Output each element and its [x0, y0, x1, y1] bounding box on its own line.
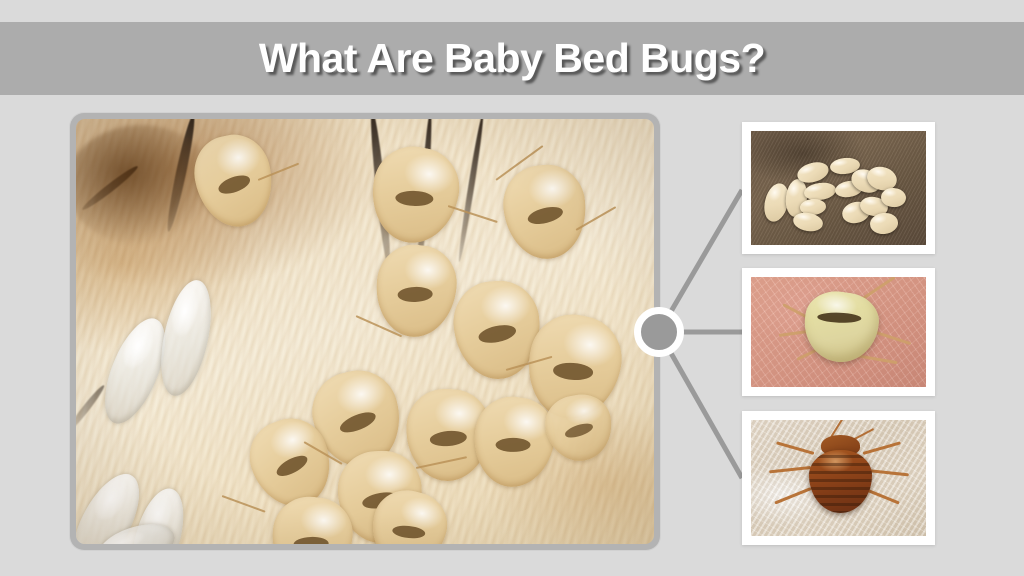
connector-line-to-adult: [659, 332, 742, 478]
title-band: What Are Baby Bed Bugs?: [0, 22, 1024, 95]
slide-canvas: What Are Baby Bed Bugs?: [0, 0, 1024, 576]
thumbnail-image: [751, 277, 926, 387]
page-title: What Are Baby Bed Bugs?: [259, 35, 765, 82]
adult-bed-bug-thumbnail[interactable]: [742, 411, 935, 545]
connector-line-to-eggs: [659, 190, 742, 332]
photo-vignette: [76, 119, 654, 544]
bed-bug-eggs-thumbnail[interactable]: [742, 122, 935, 254]
thumbnail-image: [751, 420, 926, 536]
thumbnail-image: [751, 131, 926, 245]
hero-image-frame: [70, 113, 660, 550]
bed-bug-nymph-on-skin-thumbnail[interactable]: [742, 268, 935, 396]
baby-bed-bugs-closeup-photo: [76, 119, 654, 544]
